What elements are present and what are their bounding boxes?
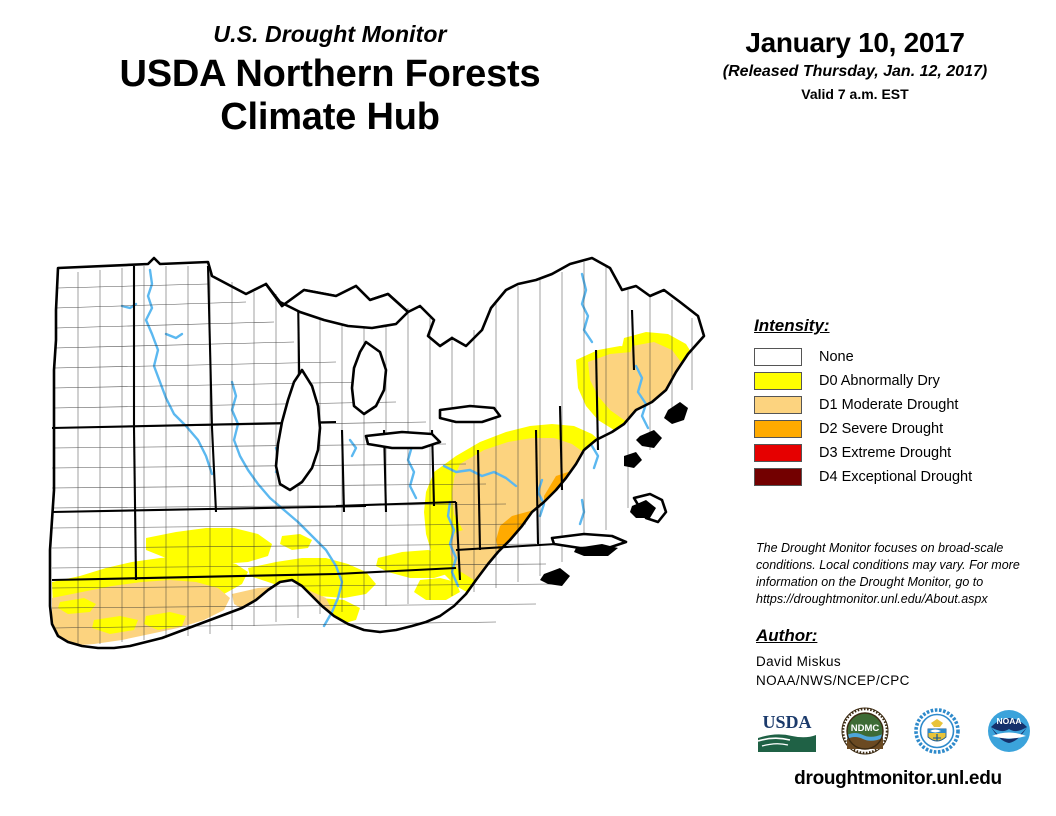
usda-logo-text: USDA (762, 712, 811, 732)
author-name: David Miskus (756, 653, 1028, 672)
legend-swatch-d0 (754, 372, 802, 390)
legend-label-d1: D1 Moderate Drought (819, 397, 958, 413)
valid-date: January 10, 2017 (690, 28, 1020, 59)
legend-swatch-none (754, 348, 802, 366)
legend-swatch-d4 (754, 468, 802, 486)
legend-heading: Intensity: (754, 316, 1044, 336)
disclaimer-link[interactable]: https://droughtmonitor.unl.edu/About.asp… (756, 591, 1028, 608)
drought-map-svg (36, 250, 736, 690)
drought-monitor-supertitle: U.S. Drought Monitor (0, 22, 660, 47)
page-title: USDA Northern Forests Climate Hub (0, 53, 660, 138)
legend-label-d2: D2 Severe Drought (819, 421, 943, 437)
legend-swatch-d2 (754, 420, 802, 438)
drought-map (36, 250, 736, 690)
page-title-line2: Climate Hub (0, 96, 660, 139)
author-heading: Author: (756, 626, 1028, 646)
header-date-block: January 10, 2017 (Released Thursday, Jan… (690, 28, 1020, 102)
legend-label-d0: D0 Abnormally Dry (819, 373, 940, 389)
legend-label-d3: D3 Extreme Drought (819, 445, 951, 461)
usda-logo: USDA (756, 708, 818, 754)
site-url[interactable]: droughtmonitor.unl.edu (754, 768, 1042, 790)
release-date: (Released Thursday, Jan. 12, 2017) (690, 63, 1020, 81)
disclaimer-line-2: conditions. Local conditions may vary. F… (756, 557, 1028, 574)
legend-item-d1: D1 Moderate Drought (754, 393, 1044, 417)
page-title-line1: USDA Northern Forests (0, 53, 660, 96)
author-affiliation: NOAA/NWS/NCEP/CPC (756, 672, 1028, 691)
legend-label-d4: D4 Exceptional Drought (819, 469, 972, 485)
logo-row: USDA NDMC NOAA (756, 702, 1034, 760)
legend-swatch-d3 (754, 444, 802, 462)
disclaimer-line-3: information on the Drought Monitor, go t… (756, 574, 1028, 591)
legend-item-d0: D0 Abnormally Dry (754, 369, 1044, 393)
legend-item-none: None (754, 345, 1044, 369)
ndmc-logo: NDMC (841, 707, 889, 755)
legend-item-d3: D3 Extreme Drought (754, 441, 1044, 465)
header-title-block: U.S. Drought Monitor USDA Northern Fores… (0, 22, 660, 138)
noaa-logo-text: NOAA (996, 716, 1021, 726)
disclaimer-text: The Drought Monitor focuses on broad-sca… (756, 540, 1028, 608)
legend-label-none: None (819, 349, 854, 365)
ndmc-logo-text: NDMC (851, 723, 880, 734)
author-panel: Author: David Miskus NOAA/NWS/NCEP/CPC (756, 626, 1028, 690)
noaa-logo: NOAA (984, 707, 1034, 755)
valid-time: Valid 7 a.m. EST (690, 86, 1020, 102)
nws-seal-logo (913, 707, 961, 755)
intensity-legend: Intensity: None D0 Abnormally Dry D1 Mod… (754, 316, 1044, 489)
legend-item-d4: D4 Exceptional Drought (754, 465, 1044, 489)
legend-item-d2: D2 Severe Drought (754, 417, 1044, 441)
disclaimer-line-1: The Drought Monitor focuses on broad-sca… (756, 540, 1028, 557)
legend-swatch-d1 (754, 396, 802, 414)
